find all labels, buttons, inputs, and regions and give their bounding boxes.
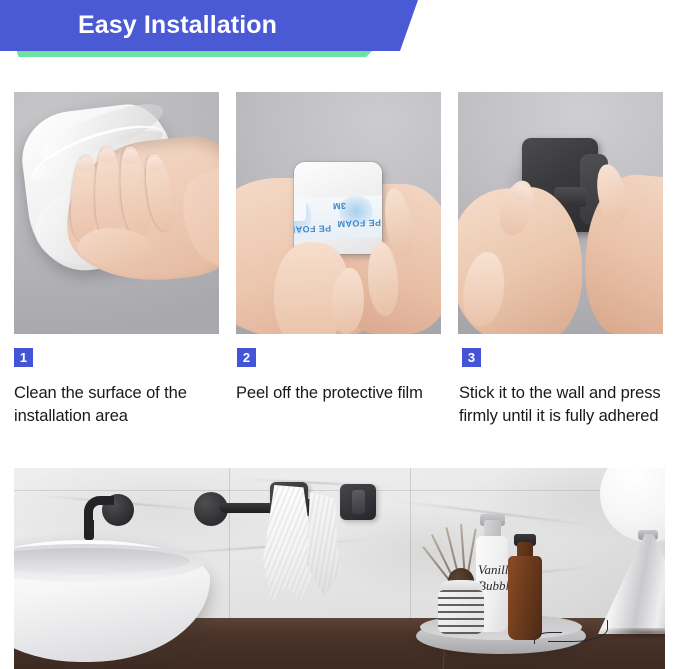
step-1-badge: 1	[14, 348, 33, 367]
step-2-caption: Peel off the protective film	[236, 382, 441, 405]
step-1-caption: Clean the surface of the installation ar…	[14, 382, 219, 429]
fingernail	[99, 149, 116, 164]
bathroom-lifestyle-photo: Vanilla Bubble	[14, 468, 665, 669]
step-1: 1 Clean the surface of the installation …	[14, 92, 219, 429]
wrist	[174, 158, 219, 275]
fingernail	[511, 182, 533, 202]
banner-shape: Easy Installation	[0, 0, 418, 51]
pad-brand-text: PE FOAM	[294, 223, 332, 235]
step-1-photo	[14, 92, 219, 334]
pad-brand-text: 3M	[333, 201, 347, 211]
amber-bottle	[508, 556, 542, 640]
pad-foam-sticker: 3M PE FOAM 3M PE FOAM	[294, 195, 382, 241]
header-banner: Easy Installation	[0, 0, 679, 66]
fingernail	[77, 157, 95, 172]
faucet-spout-outlet	[84, 520, 94, 540]
adhesive-mounting-pad: 3M PE FOAM 3M PE FOAM	[294, 162, 382, 254]
step-3-badge: 3	[462, 348, 481, 367]
step-2-photo: 3M PE FOAM 3M PE FOAM	[236, 92, 441, 334]
step-2: 3M PE FOAM 3M PE FOAM 2 Peel off the pro…	[236, 92, 441, 429]
wall-hook-empty-peg	[352, 490, 365, 514]
step-2-badge: 2	[237, 348, 256, 367]
lamp-power-cord	[534, 632, 562, 644]
fingernail	[122, 149, 140, 165]
step-3-caption: Stick it to the wall and press firmly un…	[459, 382, 663, 429]
pad-plate	[294, 162, 382, 201]
fingernail	[145, 156, 164, 173]
installation-steps: 1 Clean the surface of the installation …	[14, 92, 665, 429]
pad-brand-text: PE FOAM	[337, 217, 381, 229]
pad-notch	[294, 195, 306, 221]
page-title: Easy Installation	[78, 11, 277, 40]
step-3-photo	[458, 92, 663, 334]
striped-jar	[438, 590, 484, 634]
step-3: 3 Stick it to the wall and press firmly …	[458, 92, 663, 429]
